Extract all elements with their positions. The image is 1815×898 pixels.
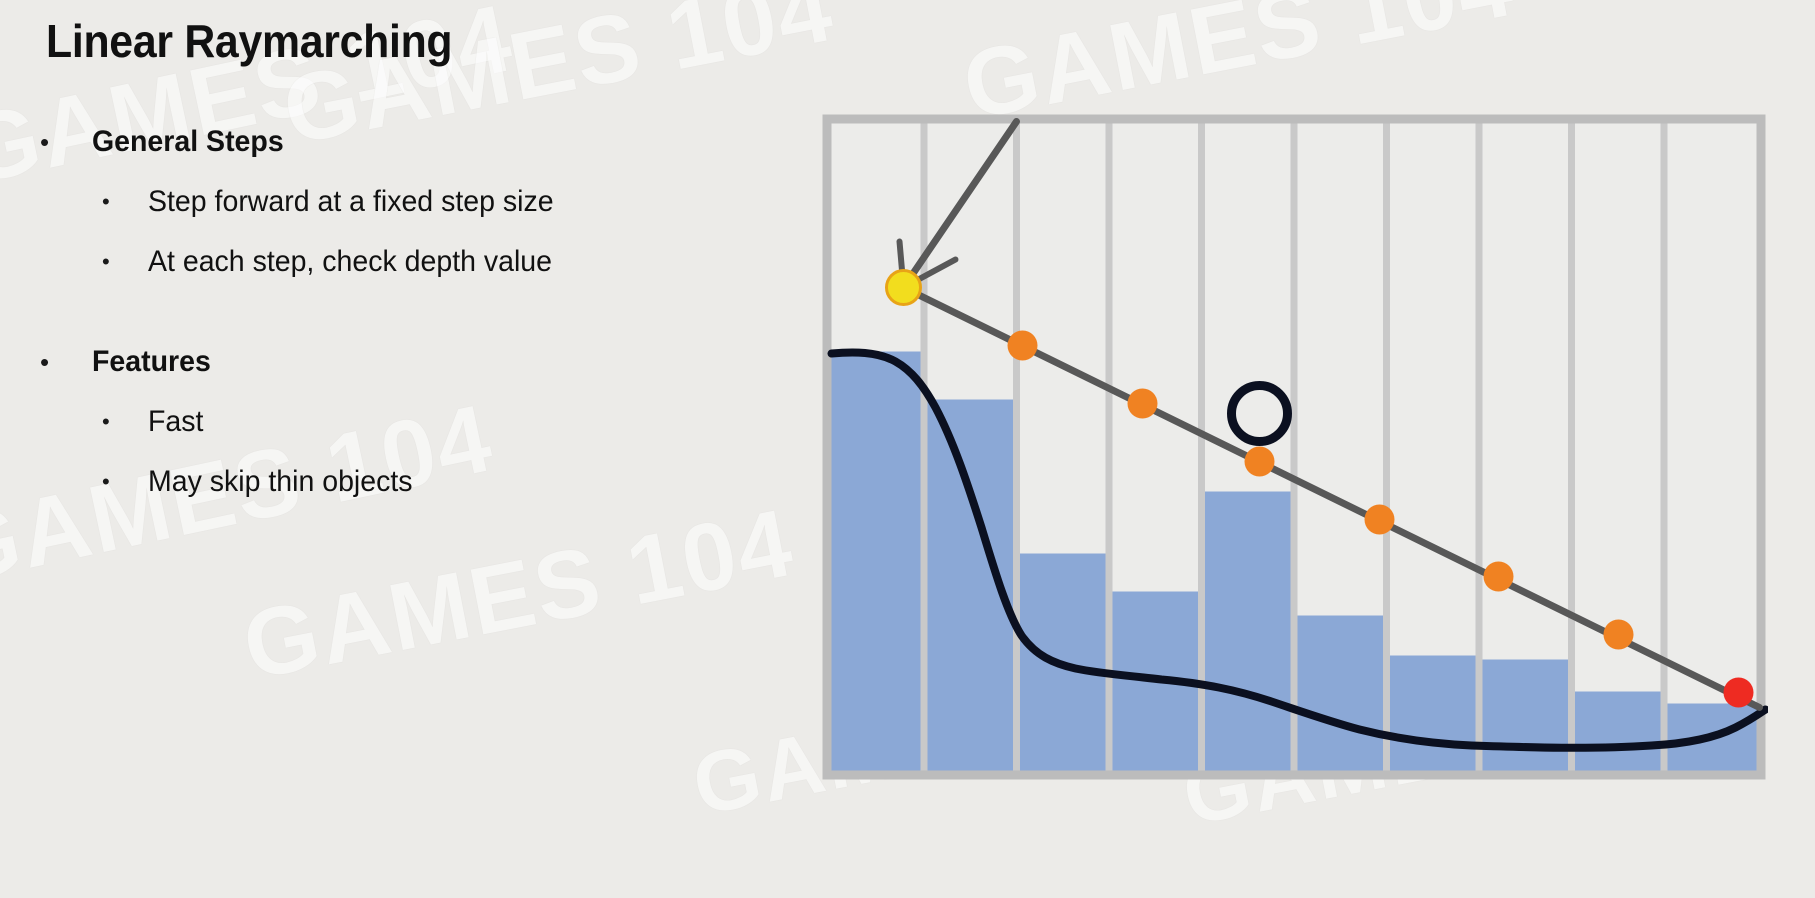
list-item-label: Step forward at a fixed step size	[148, 180, 672, 224]
watermark-text: GAMES 104	[235, 488, 803, 702]
column-separator	[1198, 124, 1205, 771]
bullet-heading-label: General Steps	[92, 120, 670, 164]
depth-bar	[1294, 616, 1387, 771]
bullet-glyph-icon: •	[102, 240, 148, 284]
step-sample-dot	[1008, 331, 1038, 361]
ray-start-point	[887, 271, 921, 305]
bullet-heading-label: Features	[92, 340, 670, 384]
bullet-glyph-icon: •	[102, 180, 148, 224]
list-item-label: At each step, check depth value	[148, 240, 672, 284]
diagram-canvas	[822, 114, 1768, 782]
depth-bar	[1572, 692, 1665, 771]
step-sample-dot	[1604, 620, 1634, 650]
bullet-glyph-icon: •	[40, 340, 92, 384]
column-separator	[1661, 124, 1668, 771]
depth-bar	[832, 352, 925, 771]
bullet-list: • General Steps • Step forward at a fixe…	[40, 120, 700, 504]
list-item: • At each step, check depth value	[102, 240, 700, 284]
column-separator	[1013, 124, 1020, 771]
column-separator	[921, 124, 928, 771]
bullet-heading-general-steps: • General Steps	[40, 120, 700, 164]
step-sample-dot	[1484, 562, 1514, 592]
step-sample-dot	[1128, 389, 1158, 419]
linear-raymarching-diagram	[822, 114, 1768, 782]
bullet-heading-features: • Features	[40, 340, 700, 384]
list-item: • Fast	[102, 400, 700, 444]
list-item-label: May skip thin objects	[148, 460, 672, 504]
column-separator	[1291, 124, 1298, 771]
step-sample-dot	[1245, 447, 1275, 477]
column-separator	[1568, 124, 1575, 771]
step-sample-dot	[1365, 505, 1395, 535]
depth-bar	[1387, 656, 1480, 771]
column-separator	[1383, 124, 1390, 771]
ray-hit-point	[1724, 678, 1754, 708]
depth-bar	[1479, 660, 1572, 771]
list-item-label: Fast	[148, 400, 672, 444]
depth-bar	[1202, 492, 1295, 771]
page-title: Linear Raymarching	[46, 14, 452, 68]
bullet-glyph-icon: •	[102, 400, 148, 444]
bullet-glyph-icon: •	[102, 460, 148, 504]
bullet-glyph-icon: •	[40, 120, 92, 164]
column-separator	[1476, 124, 1483, 771]
list-item: • Step forward at a fixed step size	[102, 180, 700, 224]
list-item: • May skip thin objects	[102, 460, 700, 504]
list-group-spacer	[40, 284, 700, 340]
